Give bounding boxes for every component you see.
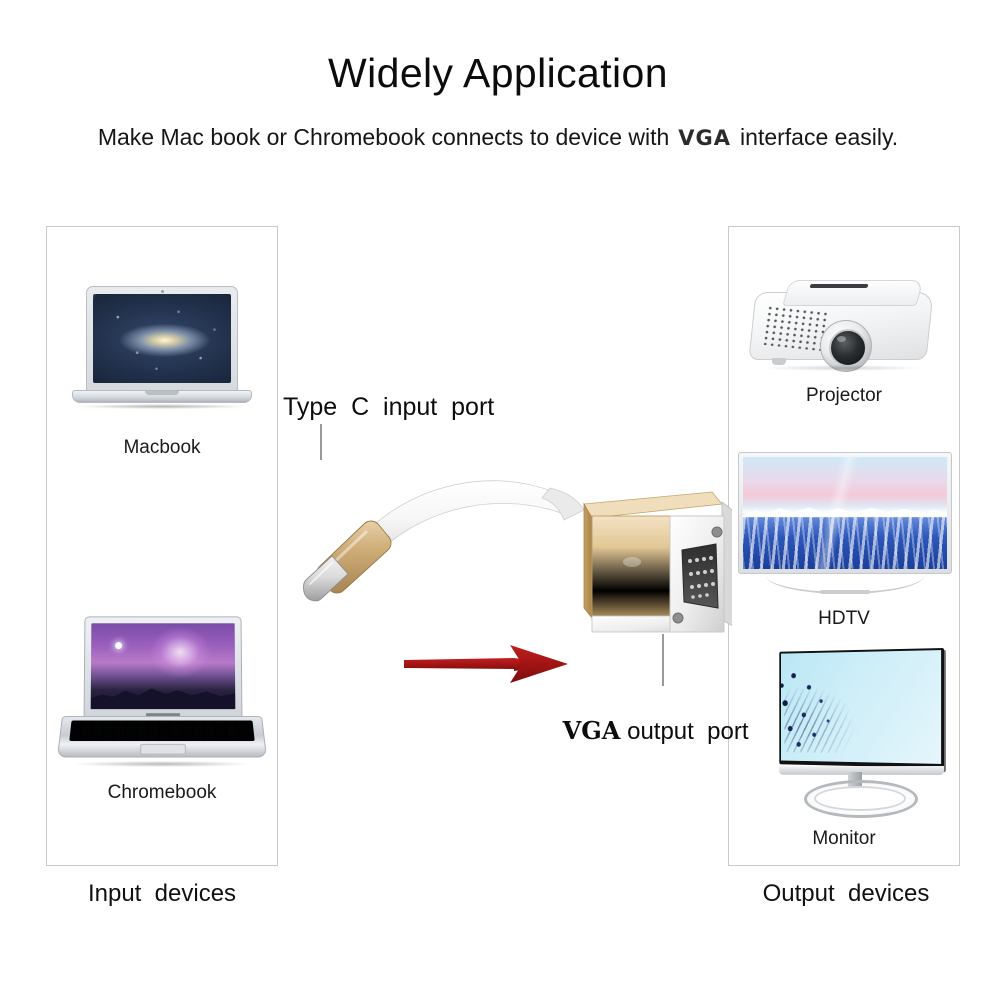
chromebook-trackpad (140, 744, 186, 755)
projector-foot (772, 358, 786, 365)
macbook-lid (86, 286, 238, 392)
device-label-monitor: Monitor (728, 828, 960, 850)
hdtv-foot (820, 590, 870, 594)
wallpaper-moon-icon (116, 642, 123, 649)
macbook-notch (145, 391, 179, 395)
chromebook-screen-wallpaper (91, 623, 236, 709)
projector-icon (748, 270, 944, 378)
chromebook-laptop-icon (62, 616, 262, 768)
usb-c-to-vga-adapter (292, 458, 732, 648)
monitor-base-inner-ring (814, 786, 906, 811)
adapter-body-left-side (584, 504, 592, 618)
hdtv-television-icon (738, 452, 952, 600)
callout-vga-highlight: VGA (563, 716, 621, 745)
projector-top-slot (809, 284, 868, 288)
macbook-shadow (78, 404, 246, 409)
macbook-laptop-icon (72, 286, 252, 416)
vga-dsub-connector (682, 544, 718, 608)
wallpaper-ink-streaks (784, 685, 855, 753)
device-label-macbook: Macbook (46, 437, 278, 459)
chromebook-base (57, 716, 267, 758)
adapter-body-gloss (623, 557, 641, 567)
computer-monitor-icon (752, 648, 952, 816)
callout-vga-rest: output port (620, 718, 748, 745)
hdtv-screen-wallpaper (743, 457, 947, 569)
monitor-screen-wallpaper (781, 650, 941, 764)
subtitle-vga-highlight: VGA (678, 126, 731, 150)
macbook-base (72, 390, 252, 403)
hdtv-frame (738, 452, 952, 574)
callout-type-c-input-port: Type C input port (283, 393, 494, 422)
chromebook-keyboard (69, 721, 254, 741)
macbook-camera-icon (161, 290, 164, 293)
adapter-body-top (584, 492, 722, 518)
output-devices-caption: Output devices (716, 880, 976, 908)
projector-vent-grille (762, 305, 829, 352)
page-title: Widely Application (0, 50, 996, 97)
vga-screw-hole-bottom (673, 613, 683, 623)
callout-leader-type-c (320, 424, 322, 460)
callout-leader-vga (662, 634, 664, 686)
monitor-panel (779, 648, 944, 768)
wallpaper-mountain-silhouette (91, 680, 236, 709)
subtitle-text-before: Make Mac book or Chromebook connects to … (98, 124, 669, 150)
chromebook-shadow (74, 761, 250, 767)
input-devices-caption: Input devices (32, 880, 292, 908)
red-right-arrow (402, 643, 572, 685)
vga-screw-hole-top (712, 527, 722, 537)
device-label-projector: Projector (728, 385, 960, 407)
hdtv-screen-glare (743, 457, 947, 569)
chromebook-lid (84, 616, 243, 720)
projector-lens (829, 329, 867, 367)
page-subtitle: Make Mac book or Chromebook connects to … (0, 124, 996, 151)
infographic-canvas: Widely Application Make Mac book or Chro… (0, 0, 996, 996)
projector-shadow (762, 365, 922, 371)
callout-vga-output-port: VGA output port (536, 688, 749, 774)
subtitle-text-after: interface easily. (740, 124, 898, 150)
macbook-screen-wallpaper (93, 294, 231, 383)
device-label-chromebook: Chromebook (46, 782, 278, 804)
device-label-hdtv: HDTV (728, 608, 960, 630)
